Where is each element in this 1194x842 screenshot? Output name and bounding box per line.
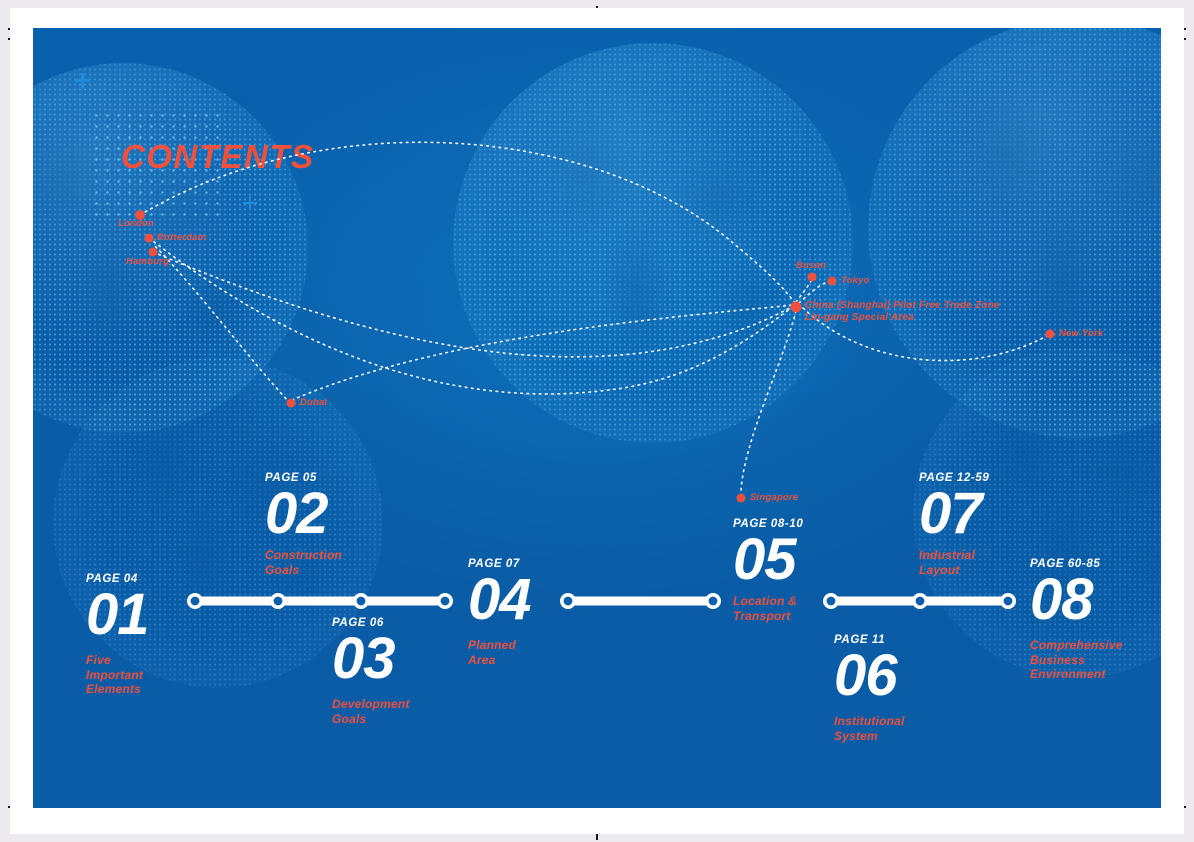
toc-title-06: Institutional System bbox=[834, 714, 905, 743]
toc-item-05[interactable]: PAGE 08-10 05 Location & Transport bbox=[733, 518, 803, 623]
timeline-connectors bbox=[33, 28, 1161, 808]
toc-title-05: Location & Transport bbox=[733, 594, 803, 623]
timeline-node[interactable] bbox=[439, 595, 451, 607]
toc-item-08[interactable]: PAGE 60-85 08 Comprehensive Business Env… bbox=[1030, 558, 1123, 682]
toc-title-01: Five Important Elements bbox=[86, 653, 149, 697]
toc-number-07: 07 bbox=[919, 484, 989, 544]
toc-number-02: 02 bbox=[265, 484, 342, 544]
toc-item-07[interactable]: PAGE 12-59 07 Industrial Layout bbox=[919, 472, 989, 577]
toc-number-01: 01 bbox=[86, 585, 149, 645]
toc-number-03: 03 bbox=[332, 629, 410, 689]
toc-item-01[interactable]: PAGE 04 01 Five Important Elements bbox=[86, 573, 149, 697]
timeline-node[interactable] bbox=[825, 595, 837, 607]
timeline-node[interactable] bbox=[189, 595, 201, 607]
toc-number-06: 06 bbox=[834, 646, 905, 706]
toc-item-03[interactable]: PAGE 06 03 Development Goals bbox=[332, 617, 410, 726]
toc-title-07: Industrial Layout bbox=[919, 548, 989, 577]
toc-title-02: Construction Goals bbox=[265, 548, 342, 577]
timeline-node[interactable] bbox=[707, 595, 719, 607]
toc-number-04: 04 bbox=[468, 570, 531, 630]
toc-item-04[interactable]: PAGE 07 04 Planned Area bbox=[468, 558, 531, 667]
toc-item-06[interactable]: PAGE 11 06 Institutional System bbox=[834, 634, 905, 743]
toc-title-04: Planned Area bbox=[468, 638, 531, 667]
timeline-node[interactable] bbox=[355, 595, 367, 607]
toc-title-03: Development Goals bbox=[332, 697, 410, 726]
toc-number-08: 08 bbox=[1030, 570, 1123, 630]
toc-title-08: Comprehensive Business Environment bbox=[1030, 638, 1123, 682]
timeline-node[interactable] bbox=[272, 595, 284, 607]
contents-slide: CONTENTS bbox=[33, 28, 1161, 808]
timeline-node[interactable] bbox=[1002, 595, 1014, 607]
toc-item-02[interactable]: PAGE 05 02 Construction Goals bbox=[265, 472, 342, 577]
toc-number-05: 05 bbox=[733, 530, 803, 590]
timeline-node[interactable] bbox=[562, 595, 574, 607]
timeline-node[interactable] bbox=[914, 595, 926, 607]
